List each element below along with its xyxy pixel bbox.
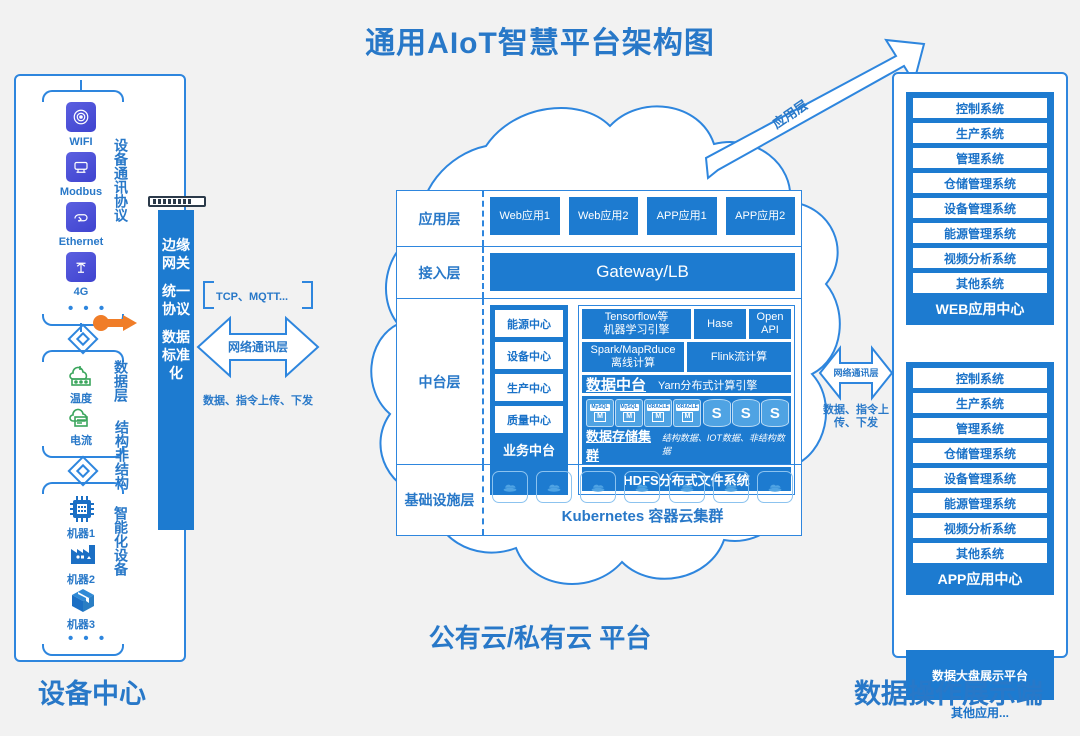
- app-center-title: APP应用中心: [913, 568, 1047, 595]
- app-center-item[interactable]: 管理系统: [913, 418, 1047, 438]
- k8s-node-row: [492, 471, 793, 503]
- stack-row-application: 应用层 Web应用1 Web应用2 APP应用1 APP应用2: [397, 191, 801, 247]
- protocol-group-label: 设备通讯协议: [114, 138, 130, 222]
- cloud-node-icon: [580, 471, 616, 503]
- app-center-item[interactable]: 仓储管理系统: [913, 443, 1047, 463]
- factory-icon: [68, 540, 98, 568]
- app-card[interactable]: APP应用2: [726, 197, 796, 235]
- data-center-title: 数据中台: [586, 374, 646, 395]
- cloud-node-icon: [713, 471, 749, 503]
- cloud-node-icon: [492, 471, 528, 503]
- storage-cluster-caption: 数据存储集群 结构数据、IOT数据、非结构数据: [586, 425, 787, 464]
- app-card[interactable]: Web应用1: [490, 197, 560, 235]
- web-center-item[interactable]: 仓储管理系统: [913, 173, 1047, 193]
- storage-cluster-band: MySQLM MySQLM ORACLEM ORACLEM S S S 数据存储…: [582, 396, 791, 464]
- brace-device-top: [42, 482, 124, 494]
- tcp-protocol-label: TCP、MQTT...: [216, 288, 288, 304]
- row-label-application: 应用层: [397, 191, 484, 246]
- cloud-sensor-icon: [64, 362, 98, 388]
- row-label-access: 接入层: [397, 247, 484, 298]
- display-terminal-panel: 控制系统 生产系统 管理系统 仓储管理系统 设备管理系统 能源管理系统 视频分析…: [892, 72, 1068, 658]
- storage-node-icon: S: [703, 399, 729, 425]
- web-center-item[interactable]: 其他系统: [913, 273, 1047, 293]
- brace-protocol-top: [42, 90, 124, 102]
- yarn-engine-label: Yarn分布式计算引擎: [658, 377, 757, 393]
- orange-arrow-icon: [92, 313, 140, 338]
- application-list: Web应用1 Web应用2 APP应用1 APP应用2: [490, 197, 795, 235]
- k8s-cluster-label: Kubernetes 容器云集群: [492, 505, 793, 526]
- edge-gateway-line-2: 统一协议: [158, 282, 194, 318]
- web-app-center-title: WEB应用中心: [913, 298, 1047, 325]
- ethernet-icon: [66, 202, 96, 232]
- mysql-icon: MySQLM: [586, 399, 612, 425]
- business-center-item[interactable]: 设备中心: [495, 342, 563, 369]
- web-center-item[interactable]: 视频分析系统: [913, 248, 1047, 268]
- web-center-item[interactable]: 设备管理系统: [913, 198, 1047, 218]
- ml-engine-box[interactable]: Tensorflow等 机器学习引擎: [582, 309, 691, 339]
- data-center-compute-row: Spark/MapRduce 离线计算 Flink流计算: [582, 342, 791, 372]
- box-icon: [68, 586, 98, 614]
- platform-stack: 应用层 Web应用1 Web应用2 APP应用1 APP应用2 接入层 Gate…: [396, 190, 802, 536]
- business-center-item[interactable]: 质量中心: [495, 406, 563, 433]
- flink-box[interactable]: Flink流计算: [687, 342, 791, 372]
- protocol-label-wifi: WIFI: [46, 136, 116, 148]
- network-arrow-right-label: 网络通讯层: [818, 366, 894, 379]
- row-label-infra: 基础设施层: [397, 465, 484, 535]
- stack-row-access: 接入层 Gateway/LB: [397, 247, 801, 299]
- cloud-meter-icon: [64, 406, 98, 432]
- data-layer-label: 数据层: [114, 360, 130, 402]
- app-center-item[interactable]: 设备管理系统: [913, 468, 1047, 488]
- app-center-item[interactable]: 能源管理系统: [913, 493, 1047, 513]
- caption-cloud-platform: 公有云/私有云 平台: [0, 618, 1080, 655]
- data-center-engine-row: Tensorflow等 机器学习引擎 Hase Open API: [582, 309, 791, 339]
- wifi-icon: [66, 102, 96, 132]
- gateway-device-icon: [148, 196, 206, 207]
- app-card[interactable]: Web应用2: [569, 197, 639, 235]
- edge-gateway-bar: 边缘网关 统一协议 数据标准化: [158, 210, 194, 530]
- stack-row-middle: 中台层 能源中心 设备中心 生产中心 质量中心 业务中台 Tensorflow等…: [397, 299, 801, 465]
- app-center-item[interactable]: 其他系统: [913, 543, 1047, 563]
- brace-stem: [80, 80, 82, 91]
- modbus-icon: [66, 152, 96, 182]
- cloud-node-icon: [624, 471, 660, 503]
- cloud-node-icon: [669, 471, 705, 503]
- caption-device-center: 设备中心: [38, 672, 146, 711]
- oracle-icon: ORACLEM: [673, 399, 699, 425]
- data-structure-label: 结构非结构: [114, 420, 130, 490]
- mysql-icon: MySQLM: [615, 399, 641, 425]
- edge-gateway-line-1: 边缘网关: [158, 236, 194, 272]
- protocol-label-ethernet: Ethernet: [46, 236, 116, 248]
- app-center-item[interactable]: 生产系统: [913, 393, 1047, 413]
- business-center-item[interactable]: 生产中心: [495, 374, 563, 401]
- network-arrow-left-label: 网络通讯层: [196, 338, 320, 355]
- open-api-box[interactable]: Open API: [749, 309, 791, 339]
- oracle-icon: ORACLEM: [644, 399, 670, 425]
- row-label-middle: 中台层: [397, 299, 484, 464]
- spark-box[interactable]: Spark/MapRduce 离线计算: [582, 342, 684, 372]
- cloud-node-icon: [536, 471, 572, 503]
- data-label-temp: 温度: [46, 390, 116, 406]
- hase-box[interactable]: Hase: [694, 309, 746, 339]
- network-arrow-right-caption: 数据、指令上传、下发: [814, 404, 898, 430]
- business-center-item[interactable]: 能源中心: [495, 310, 563, 337]
- web-center-item[interactable]: 能源管理系统: [913, 223, 1047, 243]
- storage-cluster-note: 结构数据、IOT数据、非结构数据: [662, 431, 787, 457]
- storage-node-icon: S: [761, 399, 787, 425]
- web-app-center-group: 控制系统 生产系统 管理系统 仓储管理系统 设备管理系统 能源管理系统 视频分析…: [906, 92, 1054, 325]
- storage-cluster-title: 数据存储集群: [586, 426, 660, 464]
- storage-node-icon: S: [732, 399, 758, 425]
- device-label-machine1: 机器1: [46, 525, 116, 541]
- yarn-band: 数据中台 Yarn分布式计算引擎: [582, 375, 791, 393]
- edge-gateway-line-3: 数据标准化: [158, 328, 194, 382]
- app-center-item[interactable]: 控制系统: [913, 368, 1047, 388]
- device-label-machine2: 机器2: [46, 571, 116, 587]
- cloud-node-icon: [757, 471, 793, 503]
- web-center-item[interactable]: 控制系统: [913, 98, 1047, 118]
- gateway-lb-box[interactable]: Gateway/LB: [490, 253, 795, 291]
- app-card[interactable]: APP应用1: [647, 197, 717, 235]
- web-center-item[interactable]: 生产系统: [913, 123, 1047, 143]
- chip-icon: [66, 494, 98, 524]
- diagram-canvas: 通用AIoT智慧平台架构图 WIFI Modbus Ethernet: [0, 0, 1080, 736]
- protocol-label-4g: 4G: [46, 286, 116, 298]
- protocol-label-modbus: Modbus: [46, 186, 116, 198]
- antenna-icon: [66, 252, 96, 282]
- smart-device-label: 智能化设备: [114, 506, 130, 576]
- app-center-item[interactable]: 视频分析系统: [913, 518, 1047, 538]
- stack-row-infra: 基础设施层 Kubernetes 容器云集群: [397, 465, 801, 535]
- web-center-item[interactable]: 管理系统: [913, 148, 1047, 168]
- network-arrow-left-caption: 数据、指令上传、下发: [186, 392, 330, 408]
- business-center-title: 业务中台: [495, 438, 563, 463]
- caption-display-terminal: 数据操作展示端: [854, 672, 1043, 711]
- app-center-group: 控制系统 生产系统 管理系统 仓储管理系统 设备管理系统 能源管理系统 视频分析…: [906, 362, 1054, 595]
- database-icon-row: MySQLM MySQLM ORACLEM ORACLEM S S S: [586, 399, 787, 425]
